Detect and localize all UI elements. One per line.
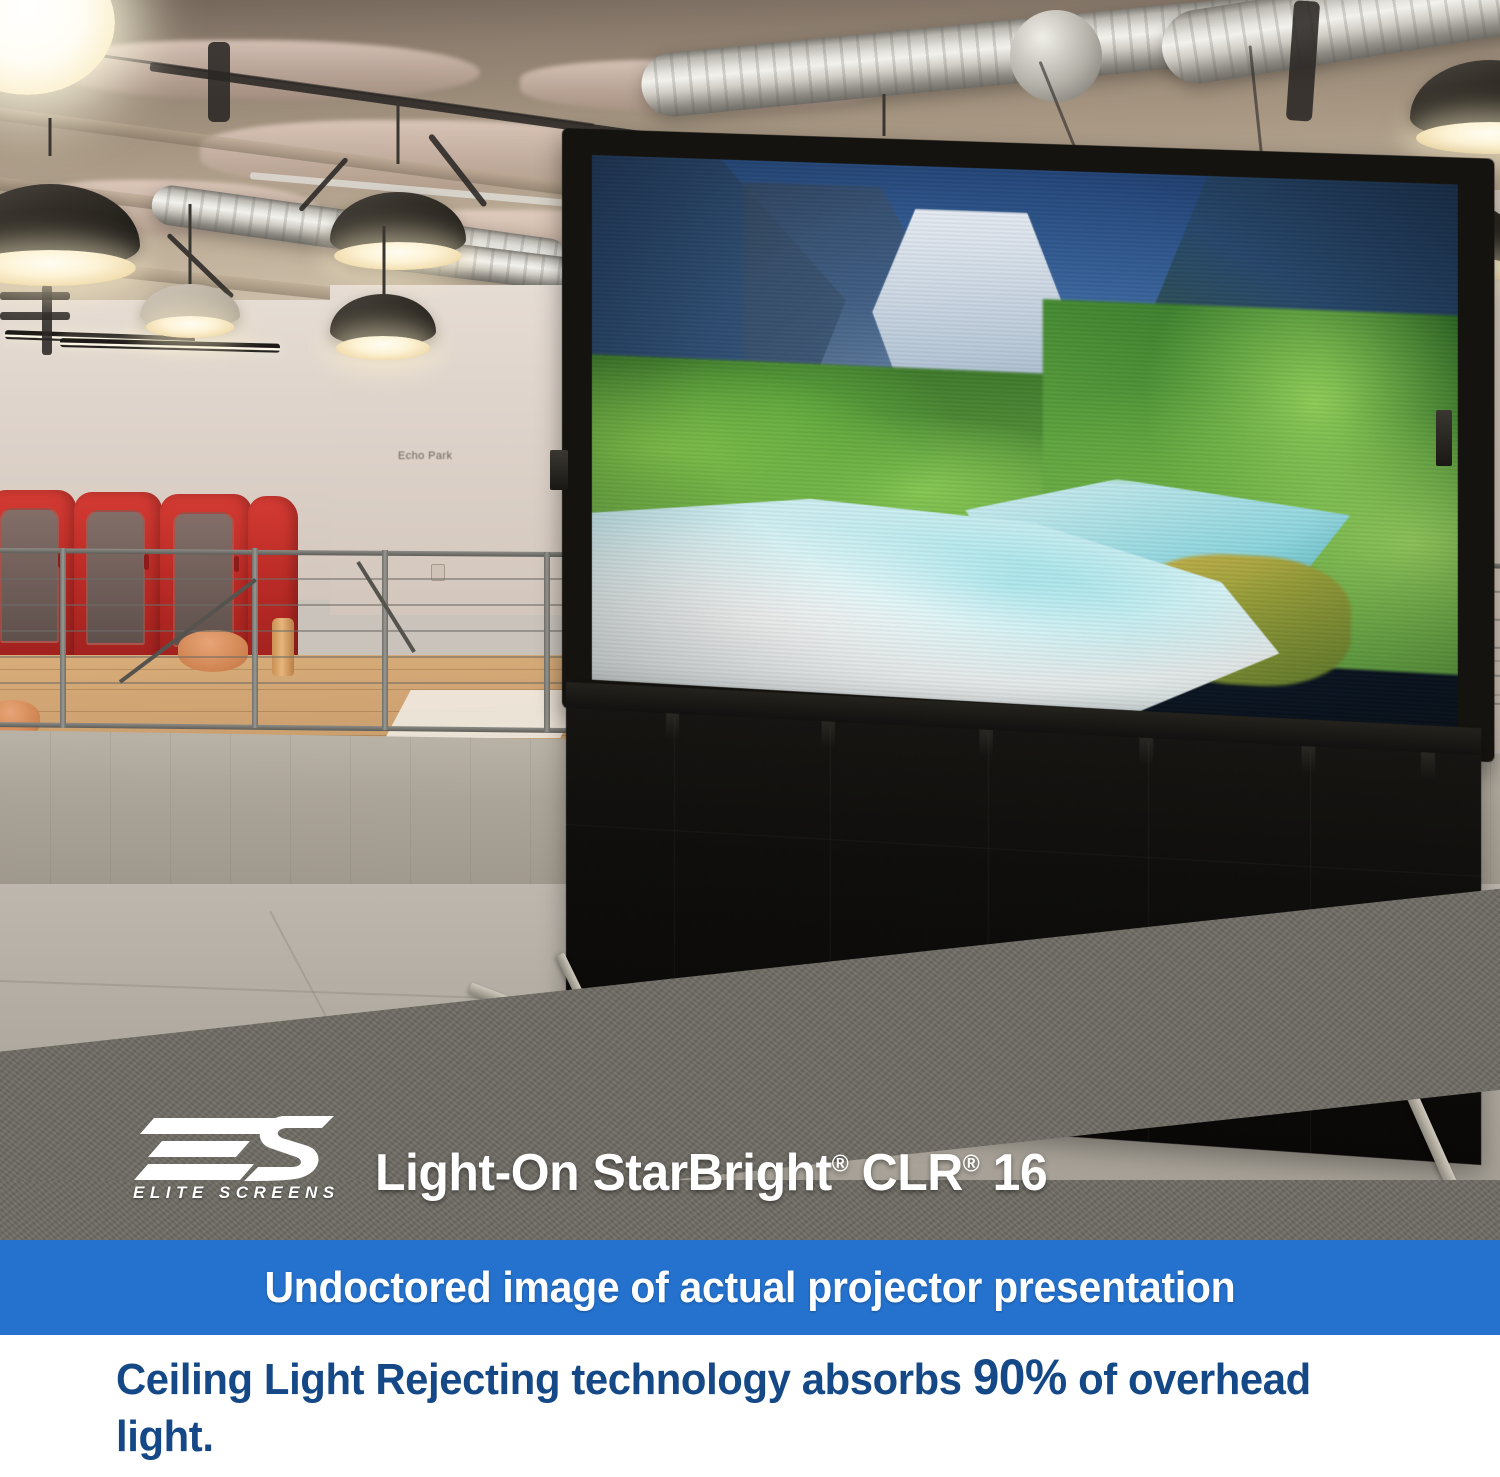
- pendant-lamp: [140, 278, 252, 394]
- projection-surface: [592, 155, 1458, 729]
- ottoman: [178, 630, 248, 672]
- drape-tab: [1139, 738, 1153, 767]
- pendant-lamp: [330, 290, 448, 410]
- footer-highlight-percent: 90%: [973, 1349, 1067, 1405]
- pendant-lamp: [0, 0, 140, 100]
- footer-caption: Ceiling Light Rejecting technology absor…: [116, 1345, 1361, 1465]
- lamp-cord: [383, 226, 386, 296]
- blue-claim-banner: Undoctored image of actual projector pre…: [0, 1240, 1500, 1335]
- lamp-glow: [146, 316, 234, 338]
- drape-tab: [1421, 752, 1435, 782]
- drape-tab: [1302, 746, 1316, 776]
- wall-signage-echo-park: Echo Park: [398, 450, 452, 462]
- lamp-cord: [189, 204, 192, 284]
- registered-mark-icon: ®: [832, 1151, 849, 1178]
- drape-tab: [979, 729, 992, 758]
- elite-screens-wordmark: ELITE SCREENS: [133, 1183, 340, 1203]
- registered-mark-icon: ®: [963, 1151, 980, 1178]
- railing-post: [252, 548, 258, 728]
- product-title: Light-On StarBright® CLR® 16: [375, 1143, 1047, 1203]
- frame-hinge: [550, 450, 568, 490]
- product-marketing-image: Echo Park: [0, 0, 1500, 1477]
- decor-vase: [272, 618, 294, 676]
- banner-text: Undoctored image of actual projector pre…: [265, 1263, 1236, 1313]
- frame-hinge: [1436, 410, 1452, 466]
- lamp-glow: [336, 336, 430, 360]
- lamp-glow: [0, 0, 115, 95]
- lamp-cord: [397, 102, 400, 164]
- product-title-part3: 16: [979, 1144, 1047, 1202]
- drape-tab: [822, 721, 835, 750]
- railing-post: [60, 548, 66, 728]
- booth-glass: [0, 508, 59, 643]
- ceiling-mounted-post: [208, 42, 230, 122]
- booth-handle: [234, 556, 239, 572]
- railing-post: [382, 550, 388, 730]
- booth-handle: [144, 554, 149, 570]
- product-title-part1: Light-On StarBright: [375, 1144, 832, 1202]
- footer-line1-after: of: [1067, 1355, 1117, 1404]
- product-photo-scene: Echo Park: [0, 0, 1500, 1240]
- lamp-glow: [334, 242, 462, 270]
- hvac-duct-elbow: [1010, 10, 1102, 102]
- pendant-lamp: [0, 150, 160, 330]
- lamp-glow: [0, 250, 136, 286]
- drape-tab: [666, 713, 679, 742]
- elite-screens-es-monogram-icon: [132, 1112, 337, 1220]
- product-title-part2: CLR: [848, 1144, 963, 1202]
- screen-frame: [562, 128, 1494, 762]
- phone-booth: [74, 492, 162, 674]
- lamp-cord: [49, 118, 52, 156]
- footer-line1-before: Ceiling Light Rejecting technology absor…: [116, 1355, 973, 1404]
